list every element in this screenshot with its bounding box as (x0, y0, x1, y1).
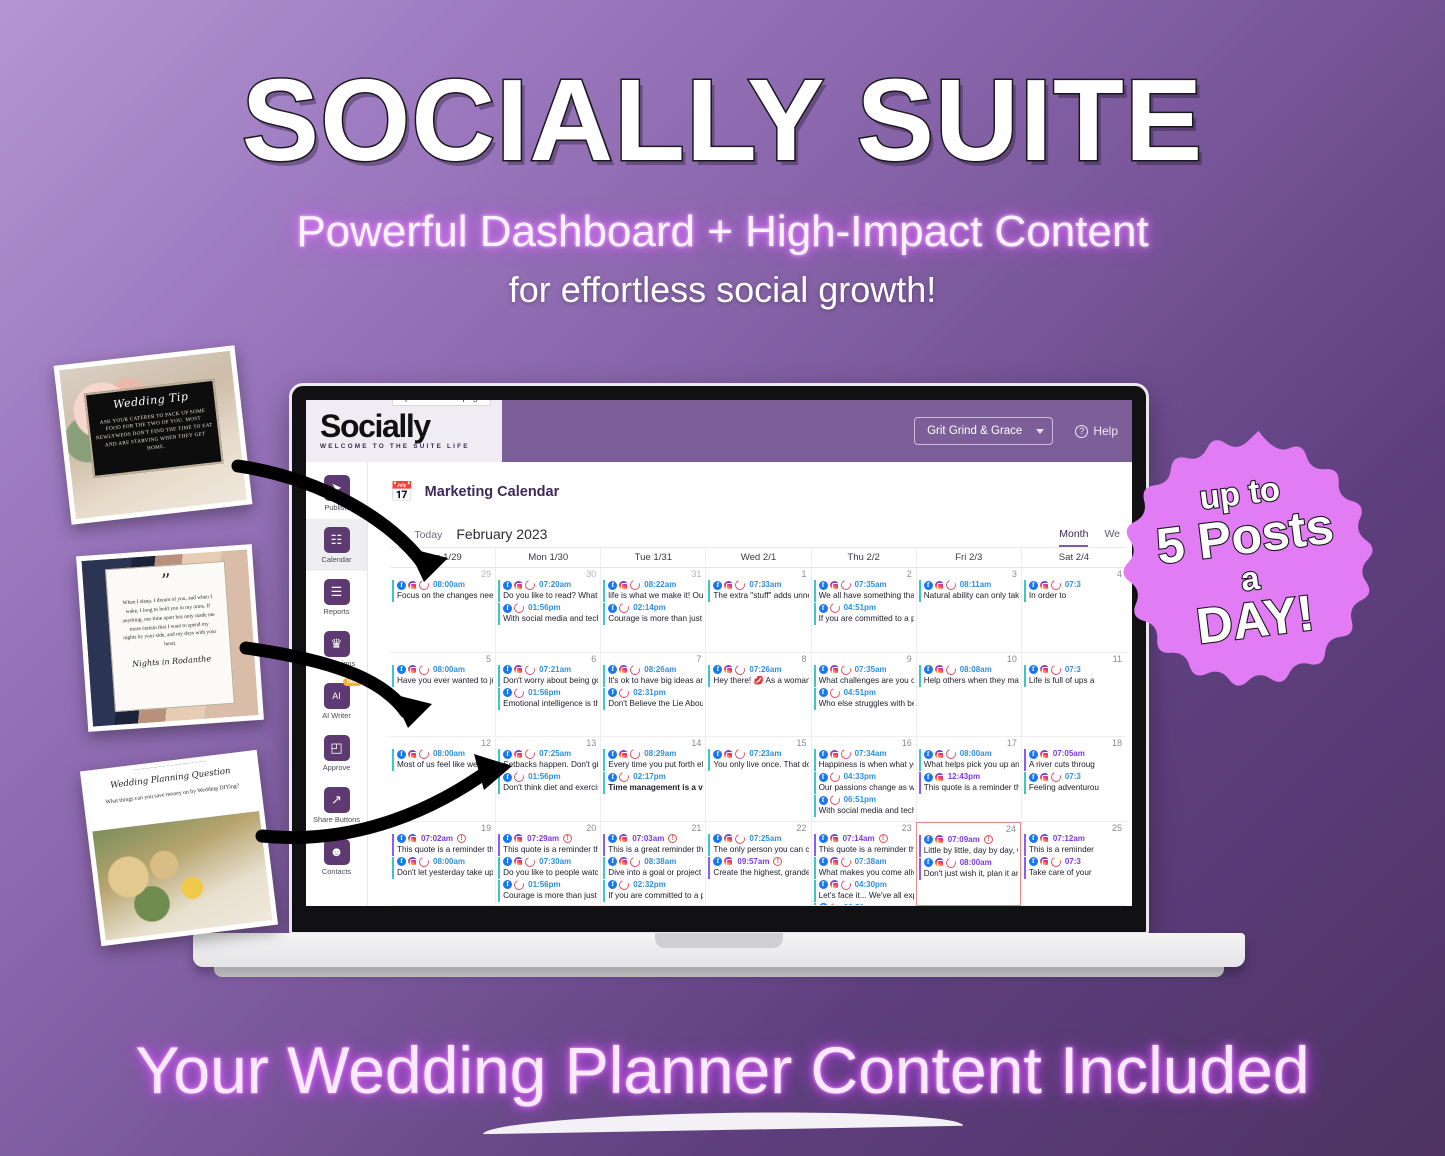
badge-text: up to 5 Posts a DAY! (1096, 409, 1399, 712)
calendar-day-cell[interactable]: 22f07:25amThe only person you can change… (705, 822, 810, 907)
calendar-day-cell[interactable]: 14f08:29amEvery time you put forth effor… (600, 737, 705, 822)
facebook-icon: f (503, 604, 512, 613)
event-meta: f07:26am (713, 665, 808, 675)
facebook-icon: f (819, 581, 828, 590)
day-number: 21 (603, 823, 703, 834)
wedding-question-card: Wedding Planning Question What things ca… (80, 750, 278, 946)
calendar-event[interactable]: f08:00amFocus on the changes needed to g (392, 580, 493, 602)
sidebar-item-campaigns[interactable]: ♛Campaigns (306, 623, 367, 675)
event-text: This quote is a reminder that ever (503, 844, 598, 855)
event-time: 07:25am (539, 749, 571, 759)
calendar-event[interactable]: f12:43pmThis quote is a reminder that no… (919, 772, 1019, 794)
calendar-event[interactable]: f07:12amThis is a reminder (1024, 834, 1124, 856)
event-meta: f01:56pm (503, 772, 598, 782)
facebook-icon: f (713, 857, 722, 866)
main-content: 📅 Marketing Calendar › Today February 20… (368, 462, 1132, 906)
event-meta: f02:17pm (608, 772, 703, 782)
instagram-icon (619, 581, 628, 590)
event-text: Time management is a valuable (608, 782, 703, 793)
event-text: Natural ability can only take you s (924, 590, 1019, 601)
sidebar-item-label: Contacts (322, 867, 351, 876)
calendar-event[interactable]: f07:3Feeling adventurou (1024, 772, 1124, 794)
calendar-day-cell[interactable]: 3f08:11amNatural ability can only take y… (916, 568, 1021, 653)
next-month-button[interactable]: › (390, 526, 414, 547)
day-number: 13 (498, 738, 598, 749)
event-text: You only live once. That doesn't m (713, 759, 808, 770)
instagram-icon (830, 665, 839, 674)
calendar-event[interactable]: f07:14am!This quote is a reminder that i… (814, 834, 914, 856)
calendar-event[interactable]: f08:29amEvery time you put forth effort … (603, 749, 703, 771)
event-meta: f08:00am (397, 665, 493, 675)
event-meta: f07:12am (1029, 834, 1124, 844)
account-select-label: Grit Grind & Grace (927, 425, 1022, 437)
calendar-event[interactable]: f01:56pmDon't think diet and exercise af… (498, 772, 598, 794)
facebook-icon: f (713, 581, 722, 590)
event-meta: f07:14am! (819, 834, 914, 844)
instagram-icon (1040, 834, 1049, 843)
pending-clock-icon (828, 901, 841, 906)
calendar-event[interactable]: f02:14pmCourage is more than just having (603, 603, 703, 625)
facebook-icon: f (819, 903, 828, 906)
facebook-icon: f (819, 750, 828, 759)
calendar-event[interactable]: f01:56pmCourage is more than just having (498, 880, 598, 902)
footer-section: Your Wedding Planner Content Included (0, 1037, 1445, 1130)
facebook-icon: f (397, 750, 406, 759)
instagram-icon (724, 581, 733, 590)
event-text: This is a reminder (1029, 844, 1124, 855)
facebook-icon: f (1029, 834, 1038, 843)
facebook-icon: f (397, 581, 406, 590)
calendar-day-cell[interactable]: 15f07:23amYou only live once. That doesn… (705, 737, 810, 822)
calendar-event[interactable]: f07:3Take care of your (1024, 857, 1124, 879)
event-text: A river cuts throug (1029, 759, 1124, 770)
calendar-day-cell[interactable]: 24f07:09am!Little by little, day by day,… (916, 822, 1021, 907)
day-number: 8 (708, 654, 808, 665)
sidebar-item-ai-writer[interactable]: AIAI WriterNew (306, 675, 367, 727)
day-number: 12 (392, 738, 493, 749)
instagram-icon (1040, 581, 1049, 590)
laptop-notch (655, 933, 783, 948)
event-text: Life is full of ups a (1029, 675, 1124, 686)
wedding-tip-body: ASK YOUR CATERER TO PACK UP SOME FOOD FO… (93, 407, 215, 460)
calendar-day-cell[interactable]: 2f07:35amWe all have something that both… (811, 568, 916, 653)
event-text: Hey there! 💋 As a woman in bus (713, 675, 808, 686)
sidebar-item-label: Share Buttons (313, 815, 360, 824)
sidebar-item-share-buttons[interactable]: ↗Share Buttons (306, 779, 367, 831)
day-number: 4 (1024, 569, 1124, 580)
instagram-icon (408, 834, 417, 843)
calendar-icon: ☷ (324, 527, 350, 553)
calendar-event[interactable]: f04:33pmOur passions change as we grow (814, 772, 914, 794)
calendar-clock-icon: 📅 (390, 480, 414, 504)
facebook-icon: f (924, 858, 933, 867)
calendar-event[interactable]: f07:21amDon't worry about being good at … (498, 665, 598, 687)
event-meta: f08:11am (924, 580, 1019, 590)
day-number: 20 (498, 823, 598, 834)
sidebar-item-label: Reports (324, 607, 350, 616)
image-approve-icon: ◰ (324, 735, 350, 761)
event-text: Dive into a goal or project head fi (608, 867, 703, 878)
wedding-question-card-inner: Wedding Planning Question What things ca… (86, 755, 273, 940)
calendar-event[interactable]: f07:34amHappiness is when what your thin (814, 749, 914, 771)
event-time: 08:00am (433, 580, 465, 590)
calendar-event[interactable]: f07:29am!This quote is a reminder that e… (498, 834, 598, 856)
event-meta: f04:33pm (819, 772, 914, 782)
event-meta: f07:21am (503, 665, 598, 675)
event-time: 07:3 (1065, 665, 1081, 675)
event-time: 08:00am (960, 749, 992, 759)
event-meta: f04:51pm (819, 603, 914, 613)
calendar-day-cell[interactable]: 19f07:02am!This quote is a reminder that… (390, 822, 495, 907)
event-meta: f07:35am (819, 665, 914, 675)
calendar-day-cell[interactable]: 20f07:29am!This quote is a reminder that… (495, 822, 600, 907)
calendar-event[interactable]: f06:51pmWith social media and technology… (814, 795, 914, 817)
calendar-event[interactable]: f04:30pmLet's face it... We've all exper… (814, 880, 914, 902)
day-number: 16 (814, 738, 914, 749)
home-page-tooltip: open the home page (392, 400, 491, 406)
event-time: 08:22am (644, 580, 676, 590)
calendar-day-cell[interactable]: 5f08:00amHave you ever wanted to just cu… (390, 653, 495, 738)
laptop-lid: Socially WELCOME TO THE SUITE LIFE open … (289, 383, 1149, 935)
event-meta: f07:33am (713, 580, 808, 590)
event-text: life is what we make it! Our attitu (608, 590, 703, 601)
facebook-icon: f (1029, 773, 1038, 782)
calendar-event[interactable]: f02:31pmDon't Believe the Lie About Over… (603, 688, 703, 710)
calendar-day-cell[interactable]: 17f08:00amWhat helps pick you up and ins… (916, 737, 1021, 822)
event-text: This quote is a reminder that it's n (819, 844, 914, 855)
event-time: 07:09am (948, 835, 980, 845)
calendar-event[interactable]: f07:3In order to (1024, 580, 1124, 602)
sidebar-item-calendar[interactable]: ☷Calendar (306, 519, 367, 571)
calendar-grid: 29f08:00amFocus on the changes needed to… (390, 568, 1126, 906)
day-number: 10 (919, 654, 1019, 665)
instagram-icon (830, 857, 839, 866)
event-time: 04:51pm (844, 688, 876, 698)
event-meta: f04:51pm (819, 688, 914, 698)
calendar-day-cell[interactable]: 16f07:34amHappiness is when what your th… (811, 737, 916, 822)
event-meta: f07:03am! (608, 834, 703, 844)
event-text: Little by little, day by day, what is (924, 845, 1018, 856)
facebook-icon: f (608, 688, 617, 697)
calendar-day-cell[interactable]: 6f07:21amDon't worry about being good at… (495, 653, 600, 738)
brand-name: Socially (320, 412, 502, 441)
calendar-day-cell[interactable]: 30f07:20amDo you like to read? What book… (495, 568, 600, 653)
instagram-icon (724, 665, 733, 674)
day-number: 15 (708, 738, 808, 749)
event-meta: f07:3 (1029, 857, 1124, 867)
event-meta: f07:35am (819, 580, 914, 590)
instagram-icon (514, 581, 523, 590)
event-text: Every time you put forth effort to (608, 759, 703, 770)
sidebar-item-approve[interactable]: ◰Approve (306, 727, 367, 779)
facebook-icon: f (397, 834, 406, 843)
calendar-event[interactable]: f08:00amDon't just wish it, plan it and … (919, 858, 1018, 880)
event-time: 07:12am (1053, 834, 1085, 844)
facebook-icon: f (713, 834, 722, 843)
event-text: This quote is a reminder that life i (397, 844, 493, 855)
new-badge: New (343, 678, 362, 686)
app-logo[interactable]: Socially WELCOME TO THE SUITE LIFE open … (306, 400, 502, 462)
instagram-icon (619, 750, 628, 759)
facebook-icon: f (819, 834, 828, 843)
event-meta: f07:38am (819, 857, 914, 867)
event-time: 09:57am (737, 857, 769, 867)
instagram-icon (935, 858, 944, 867)
warning-icon: ! (879, 834, 888, 843)
facebook-icon: f (819, 604, 828, 613)
event-time: 07:14am (843, 834, 875, 844)
event-text: Have you ever wanted to just cut (397, 675, 493, 686)
day-of-week-label: Mon 1/30 (495, 548, 600, 567)
event-meta: f07:30am (503, 857, 598, 867)
instagram-icon (619, 857, 628, 866)
day-number: 25 (1024, 823, 1124, 834)
event-text: What makes you come alive? Wha (819, 867, 914, 878)
hero-subtitle: Powerful Dashboard + High-Impact Content (0, 208, 1445, 256)
calendar-event[interactable]: f07:25amThe only person you can change i (708, 834, 808, 856)
calendar-day-cell[interactable]: 1f07:33amThe extra "stuff" adds unnecess… (705, 568, 810, 653)
wedding-tip-plate: Wedding Tip ASK YOUR CATERER TO PACK UP … (84, 378, 224, 478)
ai-pencil-icon: AI (324, 683, 350, 709)
event-time: 06:51pm (844, 903, 876, 907)
wedding-quote-card-inner: ” When I sleep, I dream of you, and when… (81, 549, 258, 726)
warning-icon: ! (668, 834, 677, 843)
calendar-day-cell[interactable]: 4f07:3In order to (1021, 568, 1126, 653)
facebook-icon: f (924, 773, 933, 782)
calendar-event[interactable]: f02:32pmIf you are committed to a path o… (603, 880, 703, 902)
calendar-event[interactable]: f08:08amHelp others when they may least (919, 665, 1019, 687)
event-meta: f08:38am (608, 857, 703, 867)
app-topbar: Socially WELCOME TO THE SUITE LIFE open … (306, 400, 1132, 462)
day-number: 19 (392, 823, 493, 834)
warning-icon: ! (563, 834, 572, 843)
calendar-event[interactable]: f07:03am!This is a great reminder that s… (603, 834, 703, 856)
facebook-icon: f (713, 750, 722, 759)
event-meta: f07:34am (819, 749, 914, 759)
calendar-event[interactable]: f06:51pmDon't Believe the Lie About Over… (814, 903, 914, 907)
instagram-icon (830, 581, 839, 590)
event-time: 07:25am (749, 834, 781, 844)
instagram-icon (1040, 773, 1049, 782)
calendar-event[interactable]: f01:56pmEmotional intelligence is the ab… (498, 688, 598, 710)
event-meta: f09:57am! (713, 857, 808, 867)
calendar-event[interactable]: f07:20amDo you like to read? What book h (498, 580, 598, 602)
event-time: 02:17pm (633, 772, 665, 782)
trophy-icon: ♛ (324, 631, 350, 657)
calendar-event[interactable]: f07:3Life is full of ups a (1024, 665, 1124, 687)
facebook-icon: f (1029, 581, 1038, 590)
event-meta: f07:29am! (503, 834, 598, 844)
event-time: 07:05am (1053, 749, 1085, 759)
event-meta: f01:56pm (503, 880, 598, 890)
facebook-icon: f (608, 880, 617, 889)
event-text: Take care of your (1029, 867, 1124, 878)
facebook-icon: f (503, 750, 512, 759)
event-time: 02:31pm (633, 688, 665, 698)
event-text: Create the highest, grandest visio (713, 867, 808, 878)
event-text: If you are committed to a path of (819, 613, 914, 624)
event-text: Courage is more than just having (608, 613, 703, 624)
event-time: 08:08am (960, 665, 992, 675)
calendar-event[interactable]: f08:00amWhat helps pick you up and inspi… (919, 749, 1019, 771)
calendar-event[interactable]: f08:00amHave you ever wanted to just cut (392, 665, 493, 687)
calendar-day-cell[interactable]: 25f07:12amThis is a reminderf07:3Take ca… (1021, 822, 1126, 907)
brand-tagline: WELCOME TO THE SUITE LIFE (320, 443, 502, 450)
calendar-event[interactable]: f07:26amHey there! 💋 As a woman in bus (708, 665, 808, 687)
event-meta: f08:29am (608, 749, 703, 759)
event-time: 07:23am (749, 749, 781, 759)
event-text: Courage is more than just having (503, 890, 598, 901)
instagram-icon (935, 665, 944, 674)
calendar-event[interactable]: f08:00amDon't let yesterday take up too … (392, 857, 493, 879)
instagram-icon (1040, 665, 1049, 674)
account-select[interactable]: Grit Grind & Grace (914, 417, 1053, 445)
calendar-day-cell[interactable]: 18f07:05amA river cuts througf07:3Feelin… (1021, 737, 1126, 822)
day-number: 30 (498, 569, 598, 580)
facebook-icon: f (924, 835, 933, 844)
socially-app: Socially WELCOME TO THE SUITE LIFE open … (306, 400, 1132, 906)
people-icon: ☻ (324, 839, 350, 865)
day-number: 2 (814, 569, 914, 580)
event-meta: f08:26am (608, 665, 703, 675)
calendar-event[interactable]: f07:33amThe extra "stuff" adds unnecessa… (708, 580, 808, 602)
calendar-event[interactable]: f07:35amWe all have something that bothe (814, 580, 914, 602)
event-meta: f06:51pm (819, 795, 914, 805)
calendar-event[interactable]: f07:38amWhat makes you come alive? Wha (814, 857, 914, 879)
calendar-event[interactable]: f07:30amDo you like to people watch? I k… (498, 857, 598, 879)
calendar-event[interactable]: f09:57am!Create the highest, grandest vi… (708, 857, 808, 879)
event-text: Help others when they may least (924, 675, 1019, 686)
calendar-day-cell[interactable]: 9f07:35amWhat challenges are you current… (811, 653, 916, 738)
calendar-event[interactable]: f08:22amlife is what we make it! Our att… (603, 580, 703, 602)
calendar-event[interactable]: f08:11amNatural ability can only take yo… (919, 580, 1019, 602)
event-text: This is a great reminder that some (608, 844, 703, 855)
page-header: 📅 Marketing Calendar (368, 462, 1132, 518)
today-button[interactable]: Today (414, 529, 456, 547)
event-meta: f07:20am (503, 580, 598, 590)
calendar-event[interactable]: f07:35amWhat challenges are you currentl… (814, 665, 914, 687)
calendar-event[interactable]: f07:23amYou only live once. That doesn't… (708, 749, 808, 771)
event-time: 12:43pm (948, 772, 980, 782)
calendar-event[interactable]: f07:25amSetbacks happen. Don't give up f… (498, 749, 598, 771)
calendar-view-tab-month[interactable]: Month (1059, 528, 1088, 547)
event-text: If you are committed to a path of (608, 890, 703, 901)
calendar-event[interactable]: f04:51pmIf you are committed to a path o… (814, 603, 914, 625)
facebook-icon: f (1029, 857, 1038, 866)
facebook-icon: f (608, 857, 617, 866)
calendar-day-cell[interactable]: 11f07:3Life is full of ups a (1021, 653, 1126, 738)
day-number: 11 (1024, 654, 1124, 665)
event-meta: f07:23am (713, 749, 808, 759)
calendar-day-cell[interactable]: 12f08:00amMost of us feel like we live f… (390, 737, 495, 822)
event-time: 08:00am (960, 858, 992, 868)
event-text: This quote is a reminder that no m (924, 782, 1019, 793)
event-meta: f07:09am! (924, 835, 1018, 845)
day-number: 29 (392, 569, 493, 580)
calendar-widget: › Today February 2023 MonthWe Sun 1/29Mo… (390, 518, 1126, 906)
instagram-icon (724, 750, 733, 759)
facebook-icon: f (503, 665, 512, 674)
calendar-event[interactable]: f07:02am!This quote is a reminder that l… (392, 834, 493, 856)
event-meta: f07:3 (1029, 772, 1124, 782)
instagram-icon (408, 665, 417, 674)
event-text: With social media and technology, (819, 805, 914, 816)
event-time: 07:21am (539, 665, 571, 675)
event-time: 07:34am (855, 749, 887, 759)
instagram-icon (724, 857, 733, 866)
sidebar-item-label: Approve (323, 763, 351, 772)
instagram-icon (619, 834, 628, 843)
sidebar-item-label: Campaigns (318, 659, 355, 668)
footer-underline (482, 1109, 962, 1134)
event-meta: f07:02am! (397, 834, 493, 844)
calendar-event[interactable]: f08:38amDive into a goal or project head… (603, 857, 703, 879)
event-time: 07:3 (1065, 772, 1081, 782)
sidebar-item-reports[interactable]: ☰Reports (306, 571, 367, 623)
laptop-mockup: Socially WELCOME TO THE SUITE LIFE open … (289, 383, 1149, 977)
calendar-event[interactable]: f08:00amMost of us feel like we live fai… (392, 749, 493, 771)
day-number: 7 (603, 654, 703, 665)
facebook-icon: f (819, 773, 828, 782)
calendar-event[interactable]: f07:09am!Little by little, day by day, w… (919, 835, 1018, 857)
sidebar-item-contacts[interactable]: ☻Contacts (306, 831, 367, 883)
calendar-day-cell[interactable]: 31f08:22amlife is what we make it! Our a… (600, 568, 705, 653)
instagram-icon (1040, 857, 1049, 866)
calendar-event[interactable]: f02:17pmTime management is a valuable (603, 772, 703, 794)
calendar-day-cell[interactable]: 23f07:14am!This quote is a reminder that… (811, 822, 916, 907)
event-time: 01:56pm (528, 880, 560, 890)
sidebar-item-publish[interactable]: ➤Publish (306, 467, 367, 519)
facebook-icon: f (608, 773, 617, 782)
day-number: 6 (498, 654, 598, 665)
laptop-screen: Socially WELCOME TO THE SUITE LIFE open … (306, 400, 1132, 906)
day-of-week-label: Sun 1/29 (390, 548, 495, 567)
calendar-event[interactable]: f08:26amIt's ok to have big ideas and dr… (603, 665, 703, 687)
marketing-calendar-title: Marketing Calendar (425, 484, 560, 500)
event-meta: f08:08am (924, 665, 1019, 675)
calendar-day-cell[interactable]: 8f07:26amHey there! 💋 As a woman in bus (705, 653, 810, 738)
facebook-icon: f (503, 857, 512, 866)
calendar-event[interactable]: f04:51pmWho else struggles with being re… (814, 688, 914, 710)
sidebar-item-label: Calendar (322, 555, 352, 564)
event-text: Who else struggles with being rea (819, 698, 914, 709)
event-text: Most of us feel like we live fairly fa (397, 759, 493, 770)
event-text: It's ok to have big ideas and drea (608, 675, 703, 686)
day-of-week-label: Fri 2/3 (916, 548, 1021, 567)
calendar-event[interactable]: f07:05amA river cuts throug (1024, 749, 1124, 771)
calendar-day-cell[interactable]: 13f07:25amSetbacks happen. Don't give up… (495, 737, 600, 822)
calendar-event[interactable]: f01:56pmWith social media and technology… (498, 603, 598, 625)
event-time: 06:51pm (844, 795, 876, 805)
hero-subtitle-secondary: for effortless social growth! (0, 270, 1445, 310)
facebook-icon: f (608, 834, 617, 843)
facebook-icon: f (713, 665, 722, 674)
calendar-day-cell[interactable]: 21f07:03am!This is a great reminder that… (600, 822, 705, 907)
day-number: 9 (814, 654, 914, 665)
wedding-quote-card: ” When I sleep, I dream of you, and when… (76, 544, 264, 732)
facebook-icon: f (819, 880, 828, 889)
posts-per-day-badge: up to 5 Posts a DAY! (1112, 425, 1384, 697)
day-number: 18 (1024, 738, 1124, 749)
calendar-day-cell[interactable]: 7f08:26amIt's ok to have big ideas and d… (600, 653, 705, 738)
instagram-icon (408, 750, 417, 759)
question-circle-icon: ? (1075, 425, 1088, 438)
calendar-day-cell[interactable]: 29f08:00amFocus on the changes needed to… (390, 568, 495, 653)
warning-icon: ! (773, 857, 782, 866)
event-text: Let's face it... We've all experience (819, 890, 914, 901)
calendar-day-cell[interactable]: 10f08:08amHelp others when they may leas… (916, 653, 1021, 738)
facebook-icon: f (608, 581, 617, 590)
